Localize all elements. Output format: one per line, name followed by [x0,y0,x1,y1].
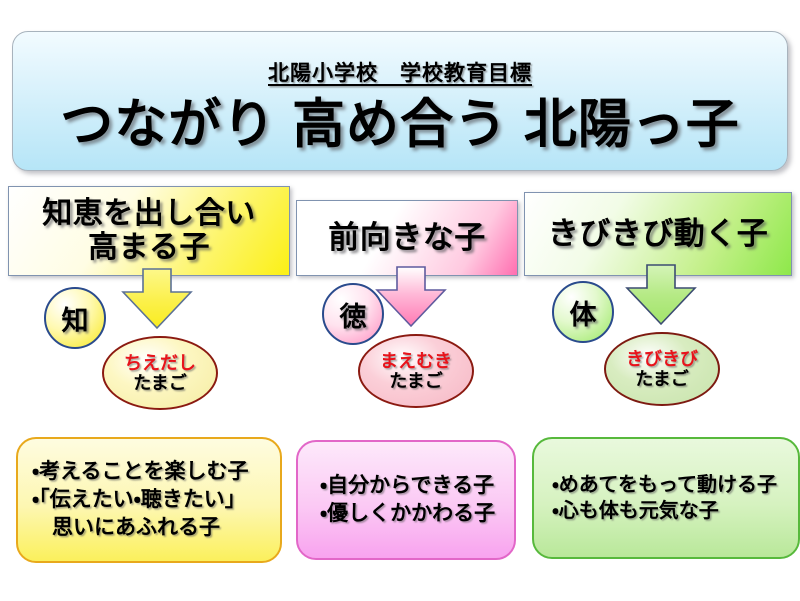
egg-tai: きびきび たまご [604,332,720,406]
outcome-panel-chi: ・考えることを楽しむ子 ・「伝えたい・聴きたい」 思いにあふれる子 [16,437,282,563]
pillar-column-tai: きびきび動く子 体 きびきび たまご ・めあてをもって動ける [524,0,792,601]
pillars-container: 知恵を出し合い 高まる子 知 ちえだし たまご [0,0,800,601]
egg-bottom-label-chi: たまご [133,373,186,393]
outcome-line: ・めあてをもって動ける子 [552,472,798,498]
egg-chi: ちえだし たまご [102,336,218,410]
outcome-line: ・優しくかかわる子 [320,500,514,528]
egg-top-label-tai: きびきび [626,349,698,369]
egg-bottom-label-toku: たまご [389,371,442,391]
pillar-title-band-chi: 知恵を出し合い 高まる子 [8,186,290,276]
pillar-title-line1-chi: 知恵を出し合い [42,197,256,230]
outcome-panel-tai: ・めあてをもって動ける子 ・心も体も元気な子 [532,437,800,559]
virtue-circle-label-chi: 知 [62,299,89,338]
outcome-line: ・考えることを楽しむ子 [32,458,280,486]
outcome-line: ・「伝えたい・聴きたい」 [32,486,280,514]
virtue-circle-chi: 知 [44,287,106,349]
virtue-circle-label-tai: 体 [570,293,597,332]
pillar-column-toku: 前向きな子 徳 まえむき たまご ・自分からできる子 [296,0,518,601]
down-arrow-icon-tai [624,264,698,326]
outcome-line: ・心も体も元気な子 [552,498,798,524]
outcome-panel-toku: ・自分からできる子 ・優しくかかわる子 [296,440,516,560]
virtue-circle-label-toku: 徳 [340,295,367,334]
egg-top-label-chi: ちえだし [124,353,196,373]
egg-top-label-toku: まえむき [380,351,452,371]
pillar-title-band-toku: 前向きな子 [296,200,518,276]
virtue-circle-tai: 体 [552,281,614,343]
pillar-title-label-chi: 知恵を出し合い 高まる子 [42,197,256,264]
egg-toku: まえむき たまご [358,334,474,408]
egg-bottom-label-tai: たまご [635,369,688,389]
down-arrow-icon-toku [374,266,448,328]
pillar-column-chi: 知恵を出し合い 高まる子 知 ちえだし たまご [8,0,290,601]
pillar-title-label-toku: 前向きな子 [328,221,486,256]
outcome-line: 思いにあふれる子 [32,514,280,542]
pillar-title-line2-chi: 高まる子 [88,231,210,264]
down-arrow-icon-chi [120,268,194,330]
outcome-line: ・自分からできる子 [320,472,514,500]
pillar-title-label-tai: きびきび動く子 [548,217,769,252]
